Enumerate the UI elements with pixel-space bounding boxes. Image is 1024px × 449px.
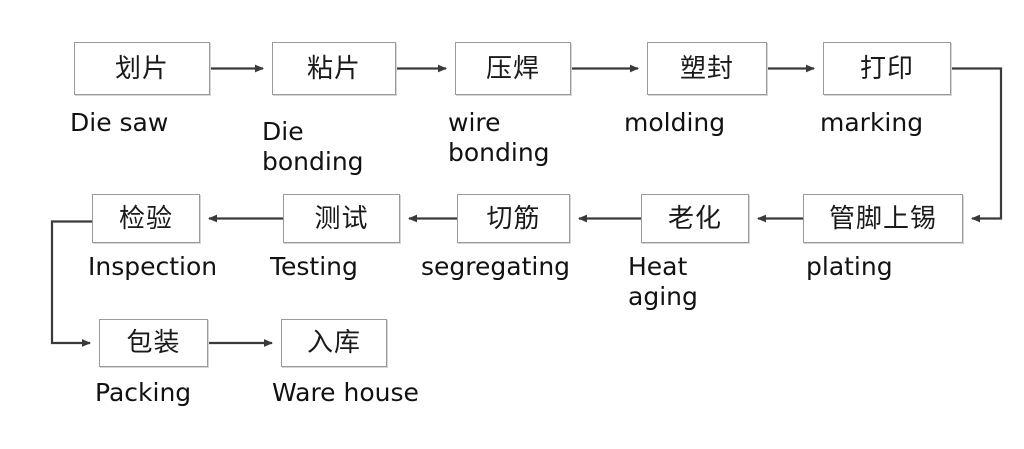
process-caption-segregating: segregating bbox=[421, 252, 570, 282]
process-caption-heat-aging: Heat aging bbox=[628, 252, 698, 311]
process-box-plating[interactable]: 管脚上锡 bbox=[803, 194, 963, 243]
process-box-testing[interactable]: 测试 bbox=[283, 194, 400, 243]
process-caption-die-saw: Die saw bbox=[70, 108, 168, 138]
process-box-die-saw[interactable]: 划片 bbox=[74, 42, 210, 95]
process-box-label-cn-molding: 塑封 bbox=[680, 56, 734, 82]
process-caption-die-bonding: Die bonding bbox=[262, 117, 364, 176]
process-box-label-cn-testing: 测试 bbox=[314, 206, 368, 232]
process-caption-warehouse: Ware house bbox=[272, 378, 419, 408]
process-caption-testing: Testing bbox=[270, 252, 358, 282]
process-box-label-cn-die-bonding: 粘片 bbox=[307, 56, 361, 82]
process-box-label-cn-marking: 打印 bbox=[860, 56, 914, 82]
process-box-molding[interactable]: 塑封 bbox=[647, 42, 767, 95]
process-caption-wire-bonding: wire bonding bbox=[448, 108, 550, 167]
process-box-wire-bonding[interactable]: 压焊 bbox=[455, 42, 571, 95]
process-box-label-cn-heat-aging: 老化 bbox=[668, 206, 722, 232]
process-box-label-cn-segregating: 切筋 bbox=[486, 206, 540, 232]
process-caption-marking: marking bbox=[820, 108, 923, 138]
process-box-label-cn-packing: 包装 bbox=[126, 330, 180, 356]
flowchart-canvas: 划片Die saw粘片Die bonding压焊wire bonding塑封mo… bbox=[0, 0, 1024, 449]
process-box-inspection[interactable]: 检验 bbox=[92, 194, 200, 243]
process-box-segregating[interactable]: 切筋 bbox=[457, 194, 570, 243]
process-caption-packing: Packing bbox=[95, 378, 191, 408]
process-box-packing[interactable]: 包装 bbox=[99, 319, 208, 367]
process-box-label-cn-warehouse: 入库 bbox=[307, 330, 361, 356]
process-box-heat-aging[interactable]: 老化 bbox=[641, 194, 749, 243]
process-box-label-cn-inspection: 检验 bbox=[119, 206, 173, 232]
process-caption-molding: molding bbox=[624, 108, 725, 138]
process-box-marking[interactable]: 打印 bbox=[823, 42, 951, 95]
process-caption-plating: plating bbox=[806, 252, 893, 282]
process-caption-inspection: Inspection bbox=[88, 252, 217, 282]
process-box-label-cn-plating: 管脚上锡 bbox=[829, 206, 937, 232]
process-box-warehouse[interactable]: 入库 bbox=[281, 319, 387, 367]
process-box-label-cn-wire-bonding: 压焊 bbox=[486, 56, 540, 82]
connector-inspection-to-packing bbox=[52, 222, 92, 344]
process-box-die-bonding[interactable]: 粘片 bbox=[272, 42, 396, 95]
process-box-label-cn-die-saw: 划片 bbox=[115, 56, 169, 82]
